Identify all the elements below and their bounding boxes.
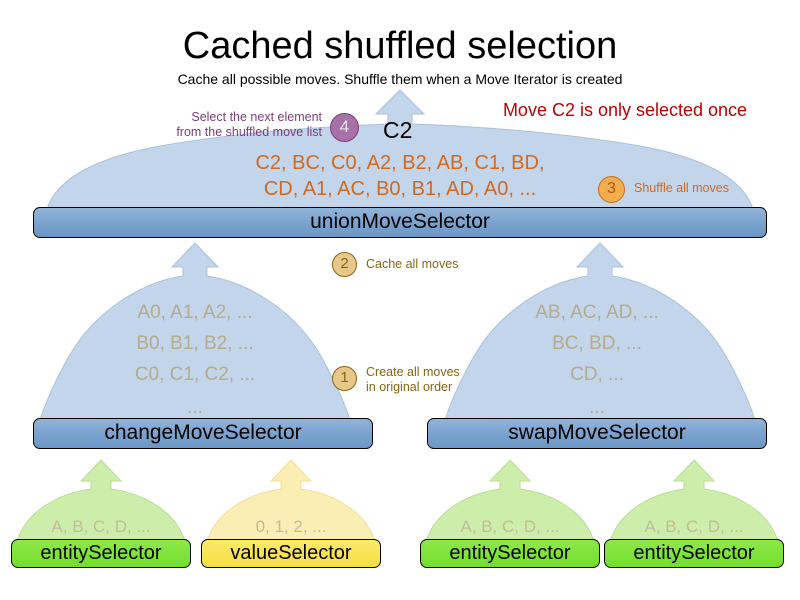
leaf-bar-value-selector[interactable]: valueSelector: [201, 539, 381, 568]
change-cloud-line-1: A0, A1, A2, ...: [95, 297, 295, 328]
union-move-selector-bar[interactable]: unionMoveSelector: [33, 207, 767, 238]
swap-cloud-line-3: CD, ...: [497, 359, 697, 390]
step-badge-4: 4: [330, 113, 359, 142]
change-cloud-line-2: B0, B1, B2, ...: [95, 328, 295, 359]
shuffle-note: Shuffle all moves: [634, 181, 729, 196]
selected-move-label: C2: [383, 117, 412, 143]
swap-cloud-line-1: AB, AC, AD, ...: [497, 297, 697, 328]
step-badge-3: 3: [598, 176, 625, 203]
create-note-line-2: in original order: [366, 380, 452, 395]
change-cloud-line-3: C0, C1, C2, ...: [95, 359, 295, 390]
step-badge-1: 1: [332, 366, 357, 391]
leaf-bar-entity-selector-1[interactable]: entitySelector: [420, 539, 600, 568]
leaf-content-1: 0, 1, 2, ...: [201, 517, 381, 537]
leaf-content-2: A, B, C, D, ...: [420, 517, 600, 537]
swap-move-selector-bar[interactable]: swapMoveSelector: [427, 418, 767, 449]
leaf-bar-entity-selector-0[interactable]: entitySelector: [11, 539, 191, 568]
cache-note: Cache all moves: [366, 257, 458, 272]
step-badge-2: 2: [332, 252, 357, 277]
diagram-canvas: Cached shuffled selection Cache all poss…: [0, 0, 800, 600]
leaf-bar-entity-selector-2[interactable]: entitySelector: [604, 539, 784, 568]
shuffled-list-line-2: CD, A1, AC, B0, B1, AD, A0, ...: [120, 176, 680, 202]
change-move-selector-bar[interactable]: changeMoveSelector: [33, 418, 373, 449]
selected-once-note: Move C2 is only selected once: [460, 99, 790, 121]
select-note-line-2: from the shuffled move list: [100, 125, 322, 140]
page-title: Cached shuffled selection: [0, 24, 800, 68]
leaf-content-3: A, B, C, D, ...: [604, 517, 784, 537]
select-note-line-1: Select the next element: [100, 110, 322, 125]
create-note-line-1: Create all moves: [366, 365, 460, 380]
swap-cloud-line-2: BC, BD, ...: [497, 328, 697, 359]
leaf-content-0: A, B, C, D, ...: [11, 517, 191, 537]
shuffled-list-line-1: C2, BC, C0, A2, B2, AB, C1, BD,: [120, 150, 680, 176]
page-subtitle: Cache all possible moves. Shuffle them w…: [0, 70, 800, 88]
